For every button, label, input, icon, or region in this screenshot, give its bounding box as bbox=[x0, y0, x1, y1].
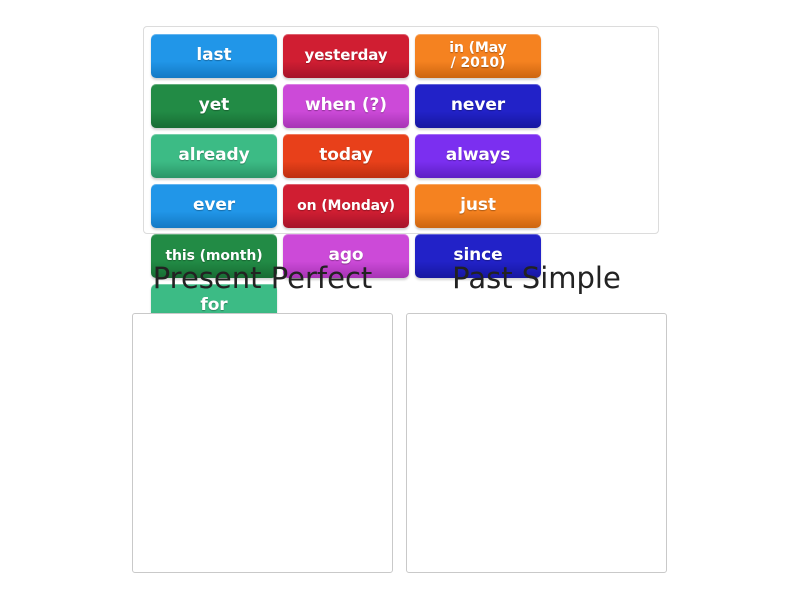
word-tile[interactable]: yet bbox=[151, 84, 277, 128]
word-tile[interactable]: always bbox=[415, 134, 541, 178]
word-tile[interactable]: when (?) bbox=[283, 84, 409, 128]
word-tile-label: when (?) bbox=[286, 97, 406, 115]
word-tile[interactable]: never bbox=[415, 84, 541, 128]
activity-stage: lastyesterdayin (May / 2010)yetwhen (?)n… bbox=[0, 0, 800, 600]
word-tile-label: yet bbox=[154, 97, 274, 115]
zone-heading-present-perfect: Present Perfect bbox=[132, 261, 393, 295]
word-tile[interactable]: in (May / 2010) bbox=[415, 34, 541, 78]
word-tile[interactable]: last bbox=[151, 34, 277, 78]
word-tile[interactable]: just bbox=[415, 184, 541, 228]
word-tile-label: already bbox=[154, 147, 274, 165]
word-tile[interactable]: yesterday bbox=[283, 34, 409, 78]
drop-zone-past-simple[interactable] bbox=[406, 313, 667, 573]
word-tile-label: in (May / 2010) bbox=[418, 41, 538, 70]
word-tile-label: on (Monday) bbox=[286, 199, 406, 214]
word-tile-label: never bbox=[418, 97, 538, 115]
word-tile-label: yesterday bbox=[286, 48, 406, 64]
word-tile[interactable]: on (Monday) bbox=[283, 184, 409, 228]
word-tile[interactable]: ever bbox=[151, 184, 277, 228]
word-tile-label: today bbox=[286, 147, 406, 165]
tile-bank[interactable]: lastyesterdayin (May / 2010)yetwhen (?)n… bbox=[143, 26, 659, 234]
word-tile-label: just bbox=[418, 197, 538, 215]
word-tile[interactable]: today bbox=[283, 134, 409, 178]
word-tile-label: last bbox=[154, 47, 274, 65]
word-tile[interactable]: already bbox=[151, 134, 277, 178]
zone-heading-past-simple: Past Simple bbox=[406, 261, 667, 295]
drop-zone-present-perfect[interactable] bbox=[132, 313, 393, 573]
word-tile-label: always bbox=[418, 147, 538, 165]
word-tile-label: ever bbox=[154, 197, 274, 215]
